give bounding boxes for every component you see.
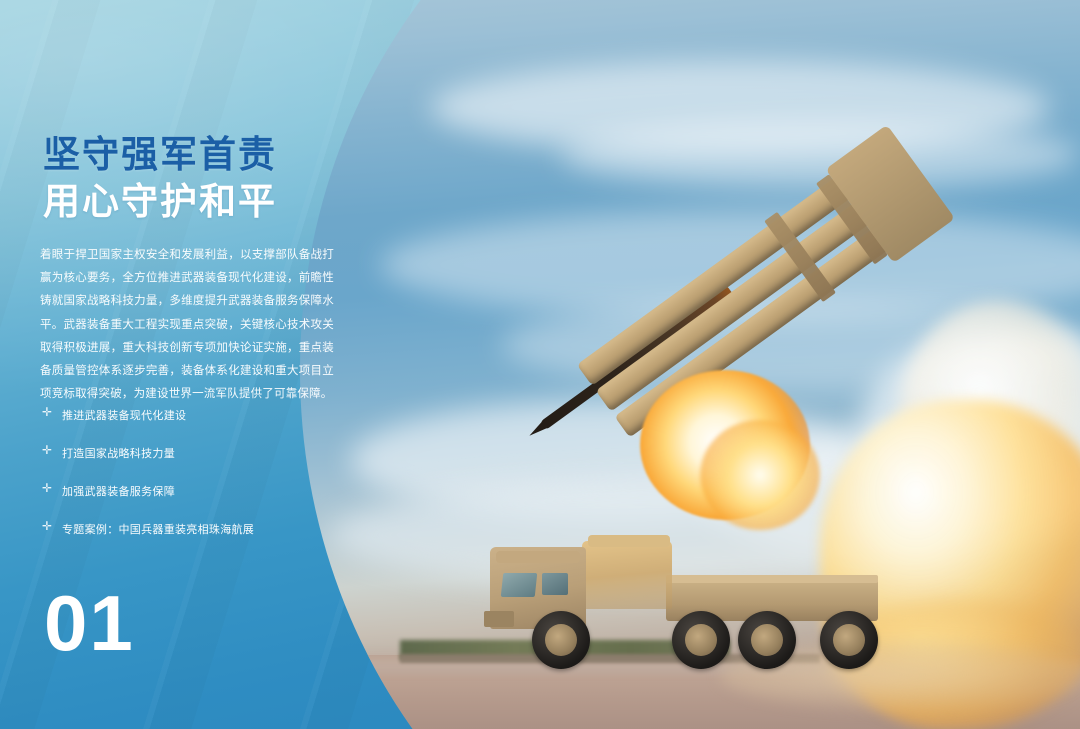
launcher-truck <box>490 535 890 660</box>
list-item-label: 加强武器装备服务保障 <box>62 486 175 498</box>
truck-side-window <box>542 573 568 595</box>
page-number: 01 <box>44 584 135 662</box>
plus-icon: ✛ <box>42 406 52 418</box>
title-line-1: 坚守强军首责 <box>43 131 343 178</box>
plus-icon: ✛ <box>42 444 52 456</box>
truck-cab-roof <box>496 551 580 563</box>
bullet-list: ✛ 推进武器装备现代化建设 ✛ 打造国家战略科技力量 ✛ 加强武器装备服务保障 … <box>40 407 340 559</box>
photo-ellipse-mask <box>300 0 1080 729</box>
text-column: 坚守强军首责 用心守护和平 着眼于捍卫国家主权安全和发展利益，以支撑部队备战打赢… <box>0 0 360 729</box>
rocket-launcher-photo <box>300 0 1080 729</box>
truck-hood-top <box>588 535 670 547</box>
poster-page: 坚守强军首责 用心守护和平 着眼于捍卫国家主权安全和发展利益，以支撑部队备战打赢… <box>0 0 1080 729</box>
body-paragraph: 着眼于捍卫国家主权安全和发展利益，以支撑部队备战打赢为核心要务，全方位推进武器装… <box>40 244 334 407</box>
truck-wheel <box>672 611 730 669</box>
list-item[interactable]: ✛ 加强武器装备服务保障 <box>40 483 340 499</box>
list-item-label: 打造国家战略科技力量 <box>62 448 175 460</box>
plus-icon: ✛ <box>42 482 52 494</box>
list-item[interactable]: ✛ 推进武器装备现代化建设 <box>40 407 340 423</box>
list-item-label: 专题案例：中国兵器重装亮相珠海航展 <box>62 524 254 536</box>
list-item[interactable]: ✛ 打造国家战略科技力量 <box>40 445 340 461</box>
truck-wheel <box>532 611 590 669</box>
truck-wheel <box>738 611 796 669</box>
plus-icon: ✛ <box>42 520 52 532</box>
list-item-label: 推进武器装备现代化建设 <box>62 410 186 422</box>
truck-bed-rail <box>666 575 878 583</box>
truck-wheel <box>820 611 878 669</box>
truck-engine-hood <box>582 541 672 609</box>
truck-windshield <box>501 573 538 597</box>
title-line-2: 用心守护和平 <box>43 178 343 225</box>
page-title: 坚守强军首责 用心守护和平 <box>43 131 343 226</box>
list-item[interactable]: ✛ 专题案例：中国兵器重装亮相珠海航展 <box>40 521 340 537</box>
truck-bumper <box>484 611 514 627</box>
muzzle-flash-core <box>700 420 820 530</box>
